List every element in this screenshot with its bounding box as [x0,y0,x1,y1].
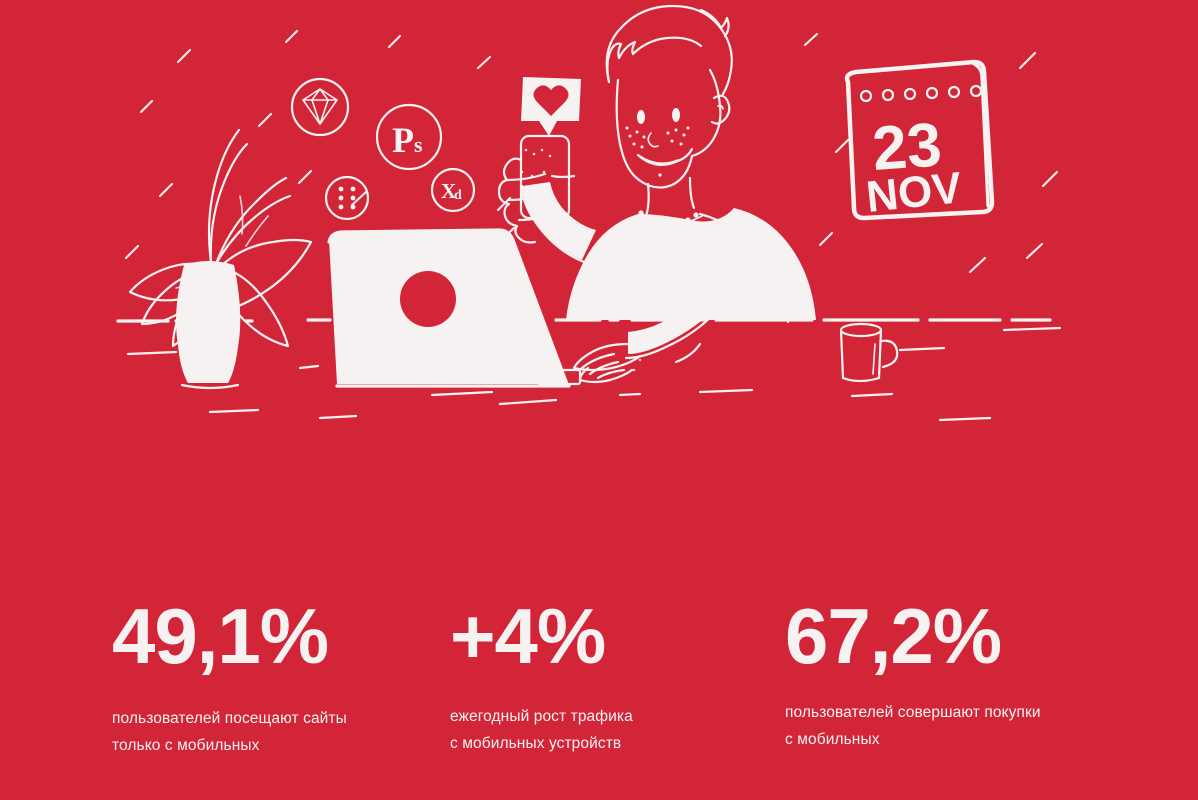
svg-text:s: s [414,132,423,157]
stat-description-2-line-2: с мобильных устройств [450,730,750,757]
stat-description-1-line-1: пользователей посещают сайты [112,705,412,732]
stat-card-3: 67,2% пользователей совершают покупки с … [785,595,1115,753]
svg-text:P: P [392,120,414,160]
mobile-user-workspace-illustration: .ink { fill: #f7f2f2; } .inkst { fill: n… [0,0,1198,470]
svg-text:d: d [454,188,462,203]
stat-card-1: 49,1% пользователей посещают сайты тольк… [112,595,412,759]
stat-description-1: пользователей посещают сайты только с мо… [112,677,412,759]
stat-value-3: 67,2% [785,595,1115,677]
stat-description-3-line-1: пользователей совершают покупки [785,699,1115,726]
stat-card-2: +4% ежегодный рост трафика с мобильных у… [450,595,750,757]
stat-description-2: ежегодный рост трафика с мобильных устро… [450,677,750,757]
stat-description-2-line-1: ежегодный рост трафика [450,703,750,730]
laptop-logo-circle [400,271,456,327]
stat-description-3: пользователей совершают покупки с мобиль… [785,677,1115,753]
infographic-page: .ink { fill: #f7f2f2; } .inkst { fill: n… [0,0,1198,800]
stats-row: 49,1% пользователей посещают сайты тольк… [0,595,1198,775]
calendar-month: NOV [864,163,965,222]
stat-description-3-line-2: с мобильных [785,726,1115,753]
stat-value-2: +4% [450,595,750,677]
stat-description-1-line-2: только с мобильных [112,732,412,759]
stat-value-1: 49,1% [112,595,412,677]
